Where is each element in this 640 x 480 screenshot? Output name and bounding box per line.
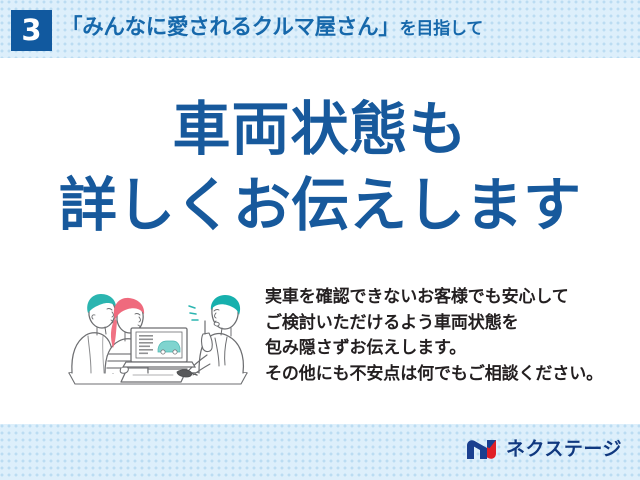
speech-ticks [189, 306, 198, 320]
body-line-1: 実車を確認できないお客様でも安心して [265, 285, 615, 311]
body-line-2: ご検討いただけるよう車両状態を [265, 311, 615, 337]
headline-line-1: 車両状態も [0, 96, 640, 162]
brand-name: ネクステージ [506, 440, 622, 459]
body-line-4: その他にも不安点は何でもご相談ください。 [265, 362, 615, 388]
page-title-tail: を目指して [400, 19, 484, 38]
footer-band: ネクステージ [0, 424, 640, 480]
page-title: 「みんなに愛されるクルマ屋さん」を目指して [61, 15, 483, 40]
consultation-illustration-svg [55, 272, 260, 390]
brand-logo: ネクステージ [465, 438, 622, 461]
consultation-illustration [55, 272, 260, 390]
body-copy: 実車を確認できないお客様でも安心して ご検討いただけるよう車両状態を 包み隠さず… [265, 285, 615, 387]
headline-line-2: 詳しくお伝えします [0, 172, 640, 238]
promo-slide: 3 「みんなに愛されるクルマ屋さん」を目指して 車両状態も 詳しくお伝えします [0, 0, 640, 480]
header-band: 3 「みんなに愛されるクルマ屋さん」を目指して [0, 0, 640, 58]
laptop-icon [123, 328, 195, 367]
headline: 車両状態も 詳しくお伝えします [0, 96, 640, 238]
section-number-badge: 3 [11, 10, 52, 51]
nextage-n-logo-icon [465, 438, 499, 461]
body-line-3: 包み隠さずお伝えします。 [265, 336, 615, 362]
page-title-main: 「みんなに愛されるクルマ屋さん」 [61, 15, 400, 39]
